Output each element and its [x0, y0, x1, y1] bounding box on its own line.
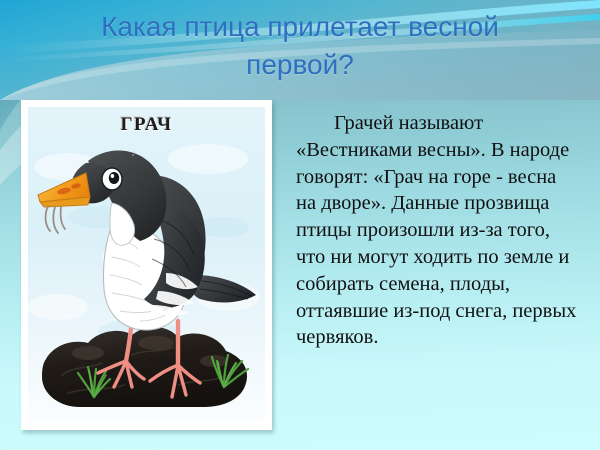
body-paragraph: Грачей называют «Вестниками весны». В на…: [296, 110, 578, 351]
presentation-slide: Какая птица прилетает весной первой?: [0, 0, 600, 450]
rook-photo-frame: ГРАЧ: [21, 100, 272, 430]
rook-illustration: ГРАЧ: [28, 107, 265, 423]
page-title: Какая птица прилетает весной первой?: [0, 8, 600, 84]
photo-caption-grach: ГРАЧ: [28, 114, 265, 136]
rook-drawing-svg: [28, 107, 265, 423]
slide-title-banner: Какая птица прилетает весной первой?: [0, 0, 600, 100]
